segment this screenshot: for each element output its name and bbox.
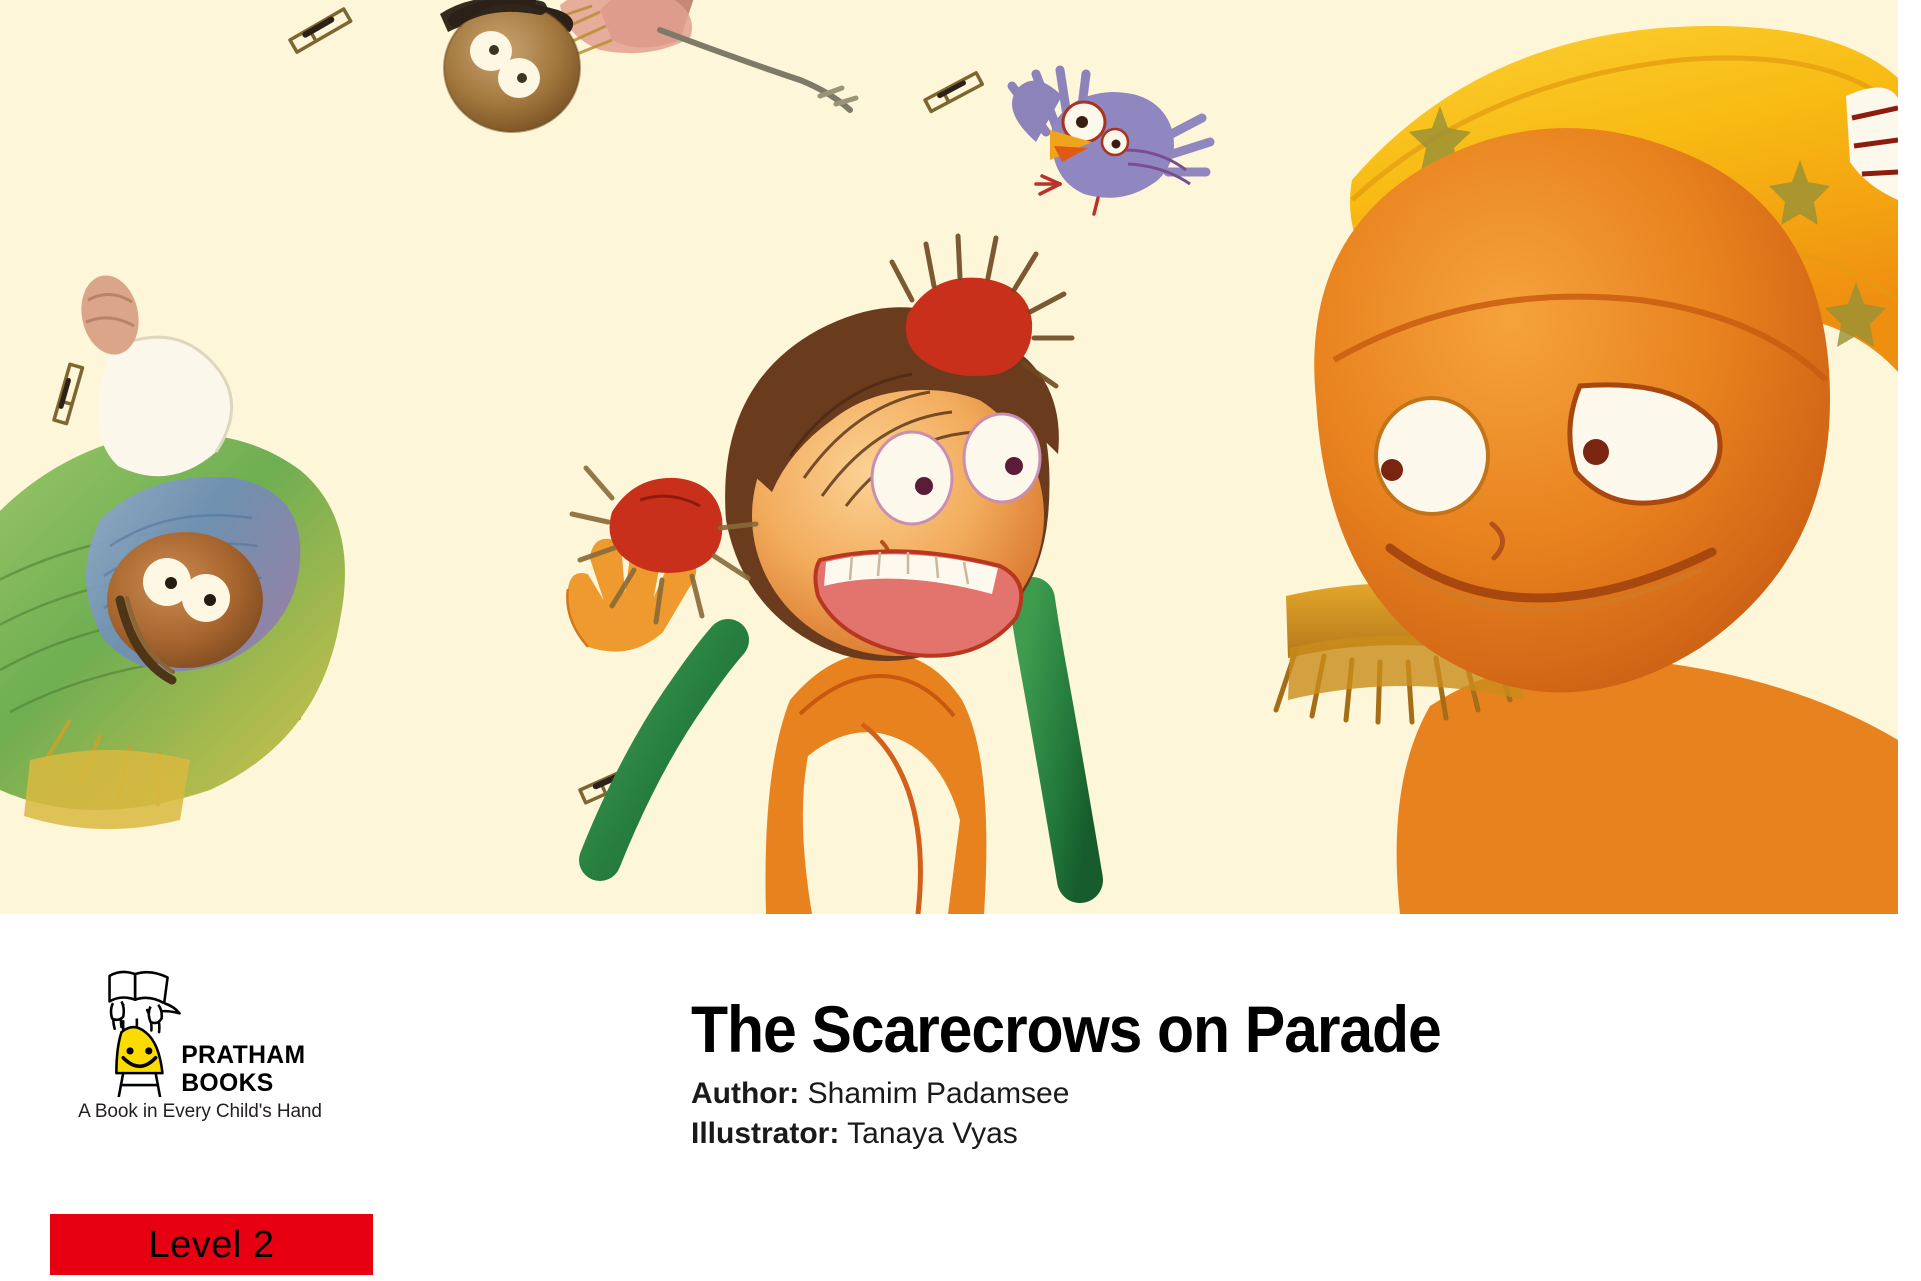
logo-child-figure	[110, 972, 180, 1097]
cover-illustration	[0, 0, 1898, 914]
author-label: Author:	[691, 1077, 799, 1110]
publisher-tagline: A Book in Every Child's Hand	[55, 1101, 345, 1123]
illustrator-credit: Illustrator: Tanaya Vyas	[691, 1114, 1791, 1154]
cover-footer: PRATHAM BOOKS A Book in Every Child's Ha…	[0, 914, 1921, 1281]
book-title: The Scarecrows on Parade	[691, 996, 1703, 1063]
pratham-books-logo: PRATHAM BOOKS	[72, 969, 328, 1097]
illustrator-label: Illustrator:	[691, 1117, 839, 1150]
author-name: Shamim Padamsee	[808, 1077, 1070, 1110]
illustrator-name: Tanaya Vyas	[847, 1117, 1018, 1150]
logo-wordmark-line2: BOOKS	[181, 1070, 273, 1097]
title-block: The Scarecrows on Parade Author: Shamim …	[691, 996, 1791, 1154]
author-credit: Author: Shamim Padamsee	[691, 1074, 1791, 1114]
level-badge: Level 2	[50, 1214, 373, 1275]
logo-wordmark-line1: PRATHAM	[181, 1042, 305, 1069]
illustration-artwork	[0, 0, 1898, 914]
publisher-block: PRATHAM BOOKS A Book in Every Child's Ha…	[55, 969, 345, 1123]
level-badge-label: Level 2	[148, 1226, 274, 1264]
